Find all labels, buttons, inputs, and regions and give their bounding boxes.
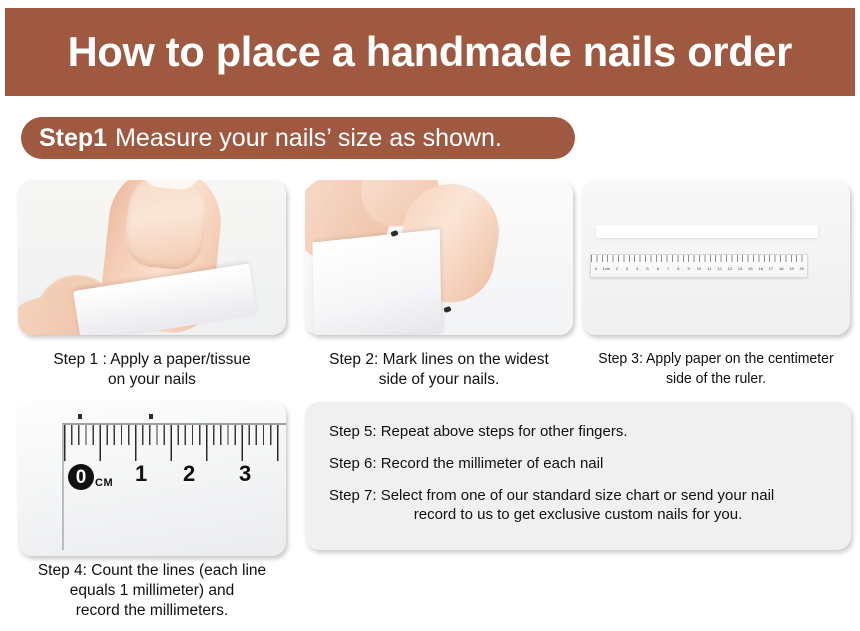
- caption-step1-line1: Step 1 : Apply a paper/tissue: [6, 350, 298, 370]
- ruler-number: 8: [673, 267, 683, 271]
- page-title: How to place a handmade nails order: [68, 31, 792, 73]
- caption-step4: Step 4: Count the lines (each line equal…: [2, 561, 302, 621]
- step1-instruction: Measure your nails’ size as shown.: [115, 126, 502, 151]
- steps-info-panel: Step 5: Repeat above steps for other fin…: [305, 402, 851, 550]
- photo-ruler-closeup: 0 CM 1 2 3: [18, 401, 286, 556]
- caption-step2-line2: side of your nails.: [293, 370, 585, 390]
- ruler-number-1: 1: [135, 463, 147, 485]
- caption-step3-line2: side of the ruler.: [574, 370, 857, 390]
- info-line-step7: Step 7: Select from one of our standard …: [329, 486, 827, 524]
- ruler-number: 17: [766, 267, 776, 271]
- ruler-number: 6: [653, 267, 663, 271]
- header-banner: How to place a handmade nails order: [5, 8, 855, 96]
- caption-step4-line1: Step 4: Count the lines (each line: [2, 561, 302, 581]
- ruler-centimeter-ticks: [64, 425, 282, 461]
- photo-card-step1: [18, 180, 286, 335]
- fingernail-shape: [122, 180, 210, 272]
- info-line-step6: Step 6: Record the millimeter of each na…: [329, 454, 827, 473]
- ruler-number: 11: [704, 267, 714, 271]
- caption-step1: Step 1 : Apply a paper/tissue on your na…: [6, 350, 298, 389]
- ruler-number: 15: [745, 267, 755, 271]
- photo-card-step3: 0 1cm 2 3 4 5 6 7 8 9 10 11 12 13 14 15 …: [582, 180, 850, 335]
- caption-step3-line1: Step 3: Apply paper on the centimeter: [574, 350, 857, 370]
- ruler-number: 20: [797, 267, 807, 271]
- ruler-number: 9: [684, 267, 694, 271]
- ruler-number: 5: [642, 267, 652, 271]
- ruler-number: 10: [694, 267, 704, 271]
- long-ruler-shape: 0 1cm 2 3 4 5 6 7 8 9 10 11 12 13 14 15 …: [590, 254, 808, 278]
- ruler-number: 12: [714, 267, 724, 271]
- ruler-number: 3: [622, 267, 632, 271]
- ruler-zero-marker: 0: [68, 464, 94, 490]
- info-line-step7-rest: record to us to get exclusive custom nai…: [414, 506, 742, 523]
- ruler-number: 2: [612, 267, 622, 271]
- ruler-number: 4: [632, 267, 642, 271]
- paper-strip-shape: [312, 229, 441, 335]
- ruler-number: 13: [725, 267, 735, 271]
- photo-card-step2: [305, 180, 573, 335]
- paper-strip-shape: [596, 225, 818, 238]
- info-line-step5: Step 5: Repeat above steps for other fin…: [329, 422, 827, 441]
- ruler-number: 7: [663, 267, 673, 271]
- photo-card-step4: 0 CM 1 2 3: [18, 401, 286, 556]
- ruler-number-row: 0 1cm 2 3 4 5 6 7 8 9 10 11 12 13 14 15 …: [591, 263, 807, 275]
- photo-paper-on-ruler: 0 1cm 2 3 4 5 6 7 8 9 10 11 12 13 14 15 …: [582, 180, 850, 335]
- ruler-number-2: 2: [183, 463, 195, 485]
- ruler-number: 14: [735, 267, 745, 271]
- caption-step2: Step 2: Mark lines on the widest side of…: [293, 350, 585, 389]
- step1-label: Step1: [39, 126, 107, 151]
- caption-step1-line2: on your nails: [6, 370, 298, 390]
- ruler-number: 1cm: [601, 267, 611, 271]
- ruler-nub-right: [149, 414, 153, 419]
- ruler-nub-left: [78, 414, 82, 419]
- ruler-number: 0: [591, 267, 601, 271]
- ruler-number: 18: [776, 267, 786, 271]
- ruler-number-3: 3: [239, 463, 251, 485]
- caption-step3: Step 3: Apply paper on the centimeter si…: [574, 350, 857, 389]
- info-line-step7-lead: Step 7: Select from one of our standard …: [329, 486, 827, 505]
- ruler-ticks: [591, 255, 807, 262]
- pen-mark-lower: [443, 306, 451, 313]
- ruler-number: 16: [756, 267, 766, 271]
- photo-finger-with-paper-strip: [18, 180, 286, 335]
- step1-banner: Step1 Measure your nails’ size as shown.: [21, 117, 575, 159]
- caption-step4-line3: record the millimeters.: [2, 601, 302, 621]
- caption-step2-line1: Step 2: Mark lines on the widest: [293, 350, 585, 370]
- photo-marking-the-paper: [305, 180, 573, 335]
- caption-step4-line2: equals 1 millimeter) and: [2, 581, 302, 601]
- ruler-number: 19: [786, 267, 796, 271]
- ruler-unit-label: CM: [95, 477, 113, 489]
